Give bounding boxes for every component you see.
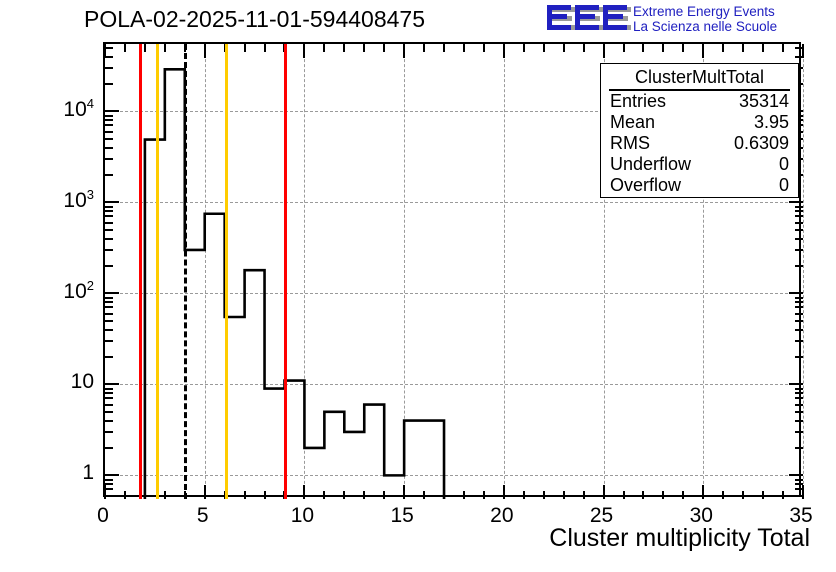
axis-tick [563,44,565,52]
axis-tick [105,83,113,85]
axis-tick [264,44,266,52]
axis-tick [105,110,119,112]
axis-tick [523,44,525,52]
axis-tick [742,491,744,499]
axis-tick [795,340,803,342]
eee-logo: Extreme Energy Events La Scienza nelle S… [545,2,833,36]
axis-tick [463,491,465,499]
axis-tick [105,124,113,126]
axis-tick [144,491,146,499]
axis-tick [503,44,505,58]
x-axis-title: Cluster multiplicity Total [549,524,810,553]
axis-tick [662,44,664,52]
y-tick-label: 1 [10,461,94,485]
axis-tick [105,488,113,490]
axis-tick [164,491,166,499]
axis-tick [105,411,113,413]
axis-tick [795,388,803,390]
axis-tick [762,44,764,52]
axis-tick [164,44,166,52]
stats-row-value: 0.6309 [734,133,789,154]
x-tick-label: 5 [197,504,209,528]
axis-tick [623,491,625,499]
axis-tick [105,138,113,140]
axis-tick [403,44,405,58]
axis-tick [795,215,803,217]
axis-tick [343,491,345,499]
y-tick-label: 102 [10,278,94,304]
axis-tick [742,44,744,52]
grid-line-horizontal [105,475,803,476]
axis-tick [795,392,803,394]
axis-tick [105,420,113,422]
axis-tick [105,131,113,133]
axis-tick [722,491,724,499]
axis-tick [105,495,113,497]
axis-tick [795,495,803,497]
axis-tick [642,491,644,499]
x-tick-label: 15 [390,504,413,528]
grid-line-vertical [803,44,804,499]
axis-tick [105,292,119,294]
axis-tick [443,44,445,52]
x-tick-label: 10 [291,504,314,528]
axis-tick [105,158,113,160]
axis-tick [483,44,485,52]
axis-tick [795,306,803,308]
axis-tick [795,210,803,212]
axis-tick [105,306,113,308]
stats-row-value: 0 [779,175,789,196]
axis-tick [795,404,803,406]
axis-tick [144,44,146,52]
stats-row: Entries35314 [601,91,798,112]
yellow-line-high [225,44,228,499]
axis-tick [105,431,113,433]
axis-tick [105,392,113,394]
axis-tick [105,215,113,217]
axis-tick [795,483,803,485]
axis-tick [762,491,764,499]
mean-line [184,44,187,499]
axis-tick [105,479,113,481]
stats-box: ClusterMultTotal Entries35314Mean3.95RMS… [600,63,799,198]
stats-row-value: 35314 [739,91,789,112]
axis-tick [795,249,803,251]
axis-tick [662,491,664,499]
axis-tick [403,485,405,499]
x-tick-label: 0 [97,504,109,528]
axis-tick [642,44,644,52]
axis-tick [795,229,803,231]
axis-tick [204,485,206,499]
axis-tick [722,44,724,52]
axis-tick [463,44,465,52]
axis-tick [105,201,119,203]
axis-tick [105,67,113,69]
axis-tick [782,491,784,499]
axis-tick [105,206,113,208]
axis-tick [343,44,345,52]
axis-tick [105,222,113,224]
axis-tick [782,44,784,52]
axis-tick [105,320,113,322]
axis-tick [795,488,803,490]
axis-tick [105,229,113,231]
axis-tick [795,238,803,240]
axis-tick [795,479,803,481]
axis-tick [795,329,803,331]
axis-tick [105,388,113,390]
axis-tick [124,491,126,499]
axis-tick [105,210,113,212]
axis-tick [795,397,803,399]
page-title: POLA-02-2025-11-01-594408475 [84,6,425,33]
axis-tick [795,301,803,303]
y-tick-label: 103 [10,187,94,213]
axis-tick [105,474,119,476]
stats-row-label: Mean [610,112,655,133]
y-tick-label: 10 [10,370,94,394]
axis-tick [383,491,385,499]
axis-tick [363,491,365,499]
axis-tick [105,47,113,49]
axis-tick [383,44,385,52]
logo-line-2: La Scienza nelle Scuole [633,19,777,34]
axis-tick [264,491,266,499]
axis-tick [244,44,246,52]
axis-tick [603,485,605,499]
stats-row-label: Overflow [610,175,681,196]
axis-tick [802,485,804,499]
eee-logo-mark [545,3,631,35]
axis-tick [795,420,803,422]
axis-tick [105,329,113,331]
axis-tick [483,491,485,499]
axis-tick [795,56,803,58]
axis-tick [105,119,113,121]
axis-tick [702,44,704,58]
axis-tick [105,356,113,358]
axis-tick [323,44,325,52]
axis-tick [795,297,803,299]
axis-tick [303,485,305,499]
stats-row: Mean3.95 [601,112,798,133]
yellow-line-low [156,44,159,499]
axis-tick [795,313,803,315]
axis-tick [795,447,803,449]
axis-tick [303,44,305,58]
axis-tick [105,238,113,240]
axis-tick [124,44,126,52]
axis-tick [795,222,803,224]
axis-tick [105,265,113,267]
axis-tick [244,491,246,499]
axis-tick [789,383,803,385]
axis-tick [682,44,684,52]
stats-box-title: ClusterMultTotal [609,64,790,91]
axis-tick [105,383,119,385]
stats-row-label: Entries [610,91,666,112]
stats-row-label: RMS [610,133,650,154]
red-line-high [284,44,287,499]
grid-line-horizontal [105,384,803,385]
axis-tick [623,44,625,52]
axis-tick [503,485,505,499]
axis-tick [105,115,113,117]
axis-tick [104,485,106,499]
axis-tick [543,44,545,52]
x-tick-label: 20 [490,504,513,528]
stats-row: Underflow0 [601,154,798,175]
stats-row: RMS0.6309 [601,133,798,154]
axis-tick [443,491,445,499]
axis-tick [105,301,113,303]
axis-tick [795,431,803,433]
axis-tick [543,491,545,499]
axis-tick [682,491,684,499]
axis-tick [423,491,425,499]
root-canvas: POLA-02-2025-11-01-594408475 [0,0,836,572]
axis-tick [105,249,113,251]
stats-row-value: 3.95 [754,112,789,133]
axis-tick [789,292,803,294]
axis-tick [105,297,113,299]
axis-tick [105,313,113,315]
stats-row: Overflow0 [601,175,798,196]
axis-tick [105,397,113,399]
axis-tick [563,491,565,499]
axis-tick [105,447,113,449]
red-line-low [139,44,142,499]
axis-tick [583,44,585,52]
stats-box-rows: Entries35314Mean3.95RMS0.6309Underflow0O… [601,91,798,196]
grid-line-horizontal [105,293,803,294]
grid-line-horizontal [105,202,803,203]
axis-tick [789,201,803,203]
axis-tick [105,56,113,58]
axis-tick [423,44,425,52]
axis-tick [789,474,803,476]
axis-tick [795,356,803,358]
y-tick-label: 104 [10,96,94,122]
axis-tick [702,485,704,499]
axis-tick [603,44,605,58]
stats-row-label: Underflow [610,154,691,175]
axis-tick [204,44,206,58]
axis-tick [105,404,113,406]
logo-line-1: Extreme Energy Events [633,4,777,19]
axis-tick [583,491,585,499]
stats-row-value: 0 [779,154,789,175]
axis-tick [323,491,325,499]
axis-tick [105,340,113,342]
axis-tick [795,265,803,267]
axis-tick [795,206,803,208]
axis-tick [523,491,525,499]
histogram-outline [145,69,444,499]
axis-tick [795,320,803,322]
axis-tick [105,174,113,176]
axis-tick [105,483,113,485]
axis-tick [795,47,803,49]
axis-tick [363,44,365,52]
axis-tick [105,147,113,149]
axis-tick [795,411,803,413]
